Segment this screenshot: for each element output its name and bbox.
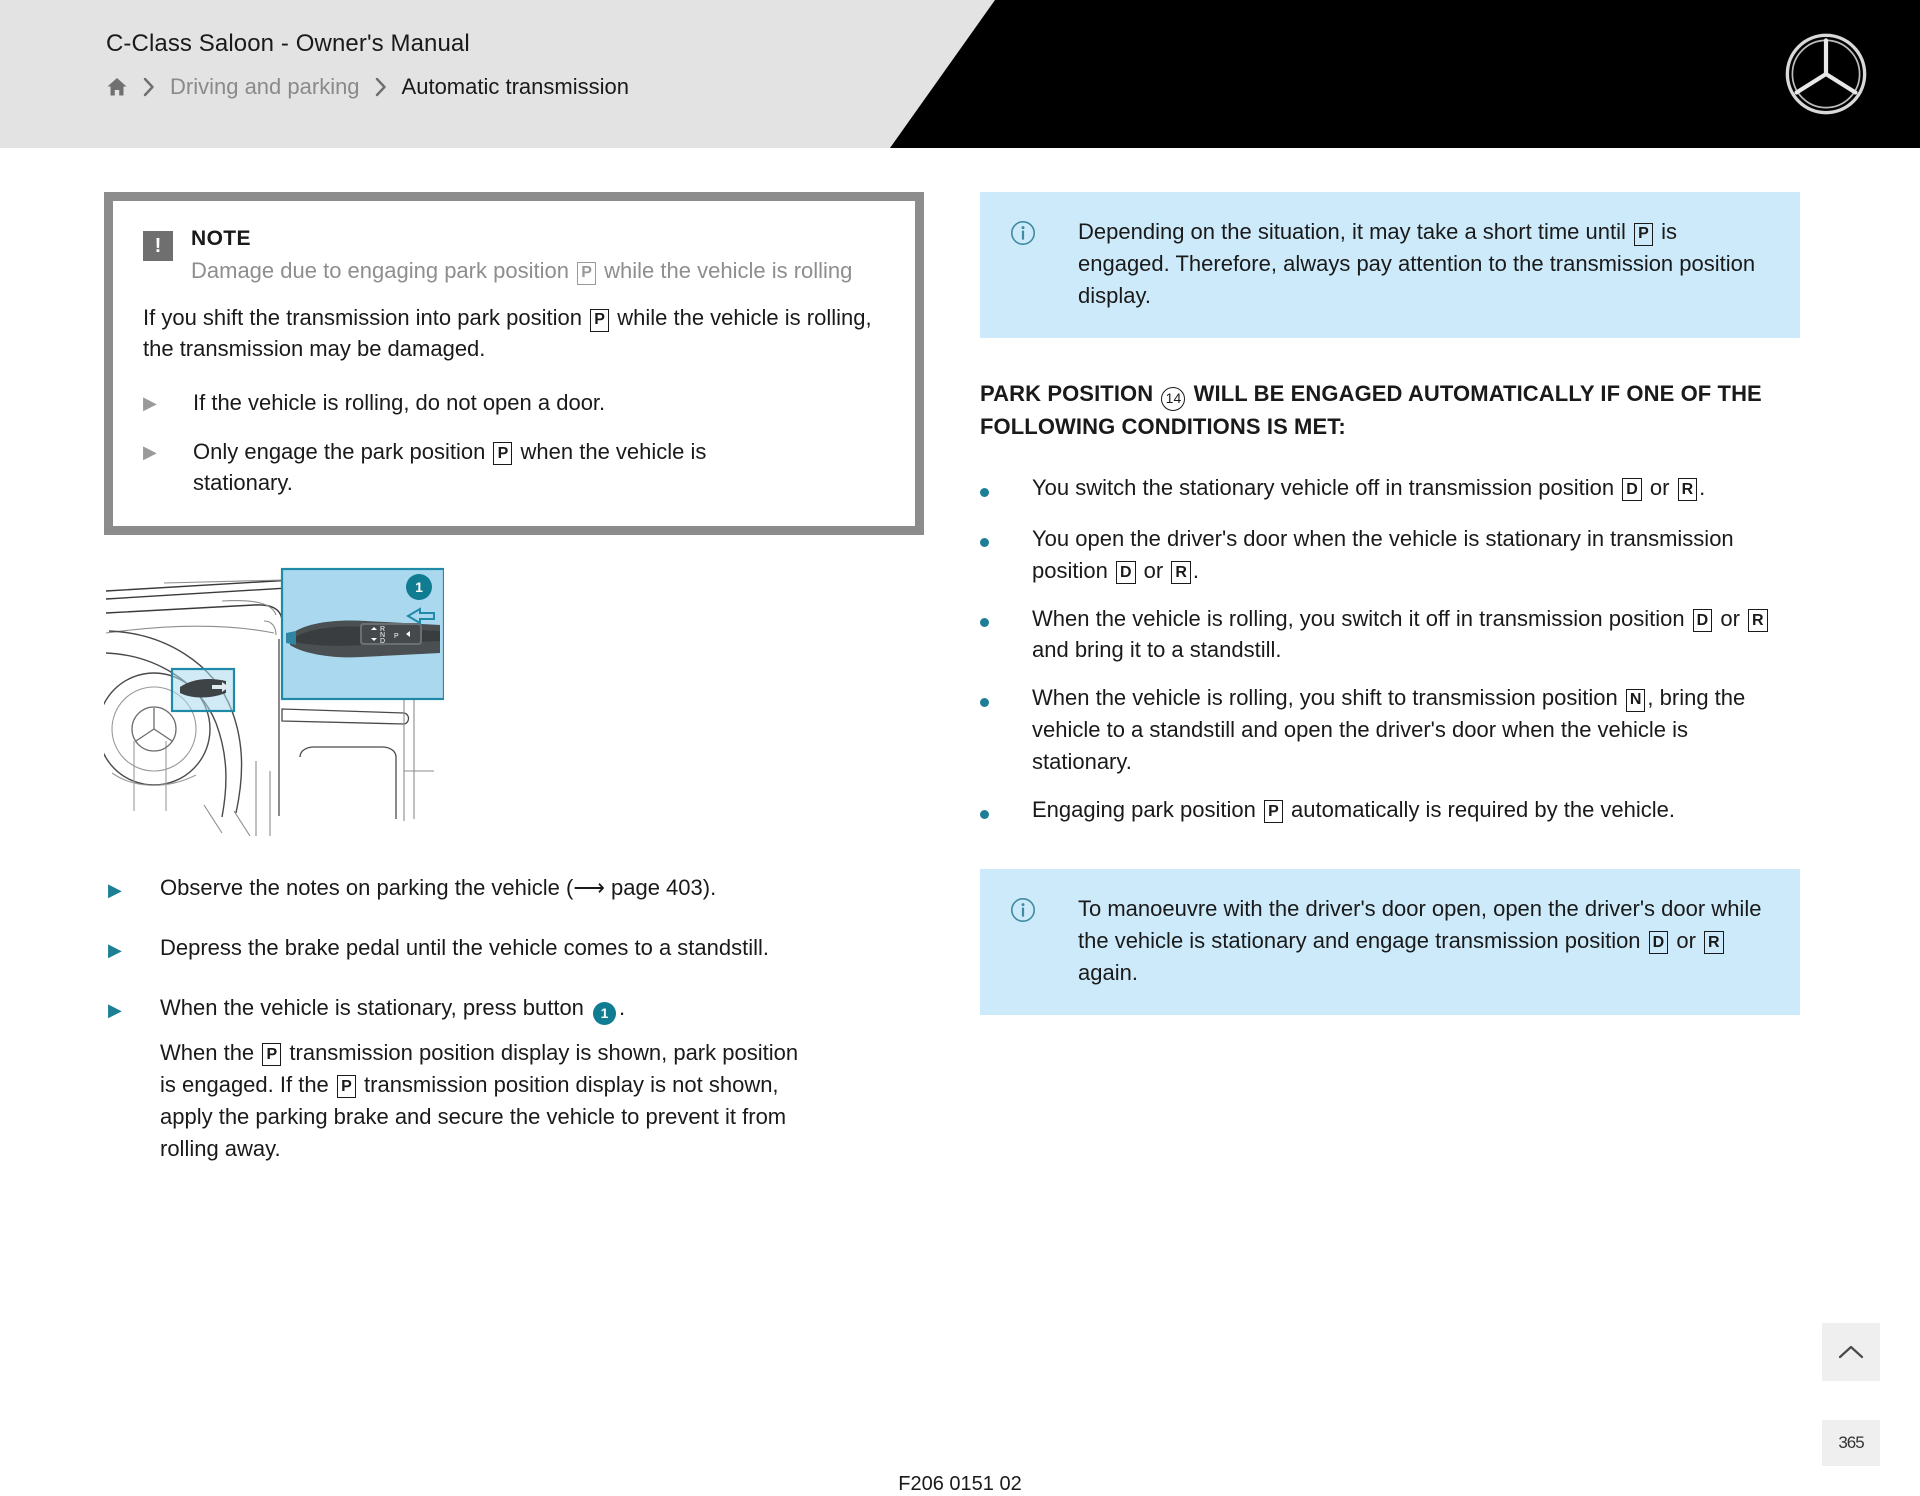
svg-text:1: 1 bbox=[415, 579, 423, 595]
gear-badge-p: P bbox=[590, 309, 609, 332]
procedure-step-text: Observe the notes on parking the vehicle… bbox=[160, 872, 800, 904]
callout-number-14: 14 bbox=[1161, 387, 1185, 411]
condition-list-item-text: You open the driver's door when the vehi… bbox=[1032, 523, 1782, 587]
callout-number-badge: 1 bbox=[593, 1002, 616, 1025]
gear-badge-d: D bbox=[1116, 561, 1136, 584]
note-label: NOTE bbox=[191, 227, 885, 251]
note-body-pre: If you shift the transmission into park … bbox=[143, 305, 588, 330]
condition-list-item-text: When the vehicle is rolling, you switch … bbox=[1032, 603, 1782, 667]
condition-list-item: When the vehicle is rolling, you shift t… bbox=[980, 682, 1800, 778]
condition-text-fragment: or bbox=[1138, 558, 1170, 583]
procedure-step-text: When the vehicle is stationary, press bu… bbox=[160, 992, 800, 1164]
gear-badge-r: R bbox=[1171, 561, 1191, 584]
note-list-item-text: If the vehicle is rolling, do not open a… bbox=[193, 387, 885, 418]
condition-list-item: You open the driver's door when the vehi… bbox=[980, 523, 1800, 587]
triangle-bullet-icon: ▶ bbox=[143, 436, 193, 498]
info-icon bbox=[1010, 893, 1078, 989]
gear-badge-d: D bbox=[1693, 609, 1713, 632]
note-list-item-text: Only engage the park position P when the… bbox=[193, 436, 885, 498]
dot-bullet-icon bbox=[980, 603, 1032, 667]
header-text-group: C-Class Saloon - Owner's Manual Driving … bbox=[106, 30, 629, 100]
condition-list-item: You switch the stationary vehicle off in… bbox=[980, 472, 1800, 507]
figure-code-footer: F206 0151 02 bbox=[0, 1473, 1920, 1496]
condition-list-item-text: You switch the stationary vehicle off in… bbox=[1032, 472, 1782, 507]
note-subtitle-post: while the vehicle is rolling bbox=[598, 258, 852, 283]
procedure-step: ▶ When the vehicle is stationary, press … bbox=[108, 992, 900, 1164]
condition-list-item-text: Engaging park position P automatically i… bbox=[1032, 794, 1782, 829]
condition-list-item: When the vehicle is rolling, you switch … bbox=[980, 603, 1800, 667]
svg-text:P: P bbox=[394, 633, 399, 640]
note-list-item: ▶ Only engage the park position P when t… bbox=[143, 436, 885, 498]
breadcrumb-current: Automatic transmission bbox=[402, 74, 629, 100]
gear-badge-n: N bbox=[1626, 689, 1646, 712]
gear-badge-r: R bbox=[1748, 609, 1768, 632]
header-black-panel bbox=[890, 0, 1920, 148]
chevron-up-icon bbox=[1837, 1342, 1865, 1362]
note-item-text: If the vehicle is rolling, do not open a… bbox=[193, 390, 605, 415]
triangle-bullet-icon: ▶ bbox=[143, 387, 193, 418]
note-box: ! NOTE Damage due to engaging park posit… bbox=[104, 192, 924, 535]
note-header: ! NOTE Damage due to engaging park posit… bbox=[143, 227, 885, 286]
dot-bullet-icon bbox=[980, 472, 1032, 507]
page-content: ! NOTE Damage due to engaging park posit… bbox=[0, 148, 1920, 1192]
right-column: Depending on the situation, it may take … bbox=[900, 192, 1800, 1192]
step-text-post: . bbox=[619, 995, 625, 1020]
page-header: C-Class Saloon - Owner's Manual Driving … bbox=[0, 0, 1920, 148]
gear-badge-d: D bbox=[1649, 931, 1669, 954]
note-body: If you shift the transmission into park … bbox=[143, 302, 885, 364]
substep-text-a: When the bbox=[160, 1040, 260, 1065]
info-text-post: again. bbox=[1078, 960, 1138, 985]
condition-text-fragment: or bbox=[1714, 606, 1746, 631]
info-text-mid: or bbox=[1670, 928, 1702, 953]
procedure-step: ▶ Depress the brake pedal until the vehi… bbox=[108, 932, 900, 964]
warning-exclamation-icon: ! bbox=[143, 231, 173, 261]
note-item-text: Only engage the park position bbox=[193, 439, 491, 464]
conditions-bullet-list: You switch the stationary vehicle off in… bbox=[980, 472, 1800, 829]
gear-badge-p: P bbox=[1264, 800, 1283, 823]
condition-text-fragment: You switch the stationary vehicle off in… bbox=[1032, 475, 1620, 500]
condition-text-fragment: or bbox=[1644, 475, 1676, 500]
breadcrumb-parent-link[interactable]: Driving and parking bbox=[170, 74, 360, 100]
dashboard-gear-selector-illustration: R N D P bbox=[104, 561, 444, 836]
scroll-to-top-button[interactable] bbox=[1822, 1323, 1880, 1381]
note-bullet-list: ▶ If the vehicle is rolling, do not open… bbox=[143, 387, 885, 499]
callout-circle-1: 1 bbox=[406, 574, 432, 600]
condition-text-fragment: automatically is required by the vehicle… bbox=[1285, 797, 1675, 822]
page-number-indicator[interactable]: 365 bbox=[1822, 1420, 1880, 1466]
dot-bullet-icon bbox=[980, 682, 1032, 778]
info-text-pre: Depending on the situation, it may take … bbox=[1078, 219, 1632, 244]
breadcrumb-separator-2 bbox=[374, 76, 388, 98]
condition-text-fragment: Engaging park position bbox=[1032, 797, 1262, 822]
breadcrumb: Driving and parking Automatic transmissi… bbox=[106, 74, 629, 100]
condition-list-item-text: When the vehicle is rolling, you shift t… bbox=[1032, 682, 1782, 778]
gear-badge-p: P bbox=[337, 1075, 356, 1098]
triangle-bullet-icon: ▶ bbox=[108, 872, 160, 904]
gear-badge-r: R bbox=[1704, 931, 1724, 954]
condition-text-fragment: . bbox=[1699, 475, 1705, 500]
condition-text-fragment: When the vehicle is rolling, you shift t… bbox=[1032, 685, 1624, 710]
left-column: ! NOTE Damage due to engaging park posit… bbox=[0, 192, 900, 1192]
section-heading: PARK POSITION 14 WILL BE ENGAGED AUTOMAT… bbox=[980, 378, 1770, 442]
two-column-layout: ! NOTE Damage due to engaging park posit… bbox=[0, 148, 1920, 1192]
home-icon[interactable] bbox=[106, 76, 128, 98]
gear-badge-p: P bbox=[493, 442, 512, 465]
gear-badge-r: R bbox=[1678, 478, 1698, 501]
gear-badge-p: P bbox=[577, 262, 596, 285]
mercedes-benz-star-icon bbox=[1784, 32, 1868, 116]
info-box-top: Depending on the situation, it may take … bbox=[980, 192, 1800, 338]
triangle-bullet-icon: ▶ bbox=[108, 932, 160, 964]
dot-bullet-icon bbox=[980, 523, 1032, 587]
dot-bullet-icon bbox=[980, 794, 1032, 829]
breadcrumb-separator-1 bbox=[142, 76, 156, 98]
condition-text-fragment: . bbox=[1193, 558, 1199, 583]
gear-badge-p: P bbox=[1634, 223, 1653, 246]
info-box-bottom-text: To manoeuvre with the driver's door open… bbox=[1078, 893, 1770, 989]
info-box-bottom: To manoeuvre with the driver's door open… bbox=[980, 869, 1800, 1015]
procedure-step: ▶ Observe the notes on parking the vehic… bbox=[108, 872, 900, 904]
heading-pre: PARK POSITION bbox=[980, 381, 1159, 406]
condition-text-fragment: and bring it to a standstill. bbox=[1032, 637, 1281, 662]
note-list-item: ▶ If the vehicle is rolling, do not open… bbox=[143, 387, 885, 418]
condition-text-fragment: When the vehicle is rolling, you switch … bbox=[1032, 606, 1691, 631]
note-subtitle-pre: Damage due to engaging park position bbox=[191, 258, 575, 283]
procedure-step-list: ▶ Observe the notes on parking the vehic… bbox=[104, 872, 900, 1164]
condition-list-item: Engaging park position P automatically i… bbox=[980, 794, 1800, 829]
info-icon bbox=[1010, 216, 1078, 312]
manual-title: C-Class Saloon - Owner's Manual bbox=[106, 30, 629, 58]
info-box-top-text: Depending on the situation, it may take … bbox=[1078, 216, 1770, 312]
gear-badge-d: D bbox=[1622, 478, 1642, 501]
procedure-step-subtext: When the P transmission position display… bbox=[160, 1037, 800, 1165]
note-header-text: NOTE Damage due to engaging park positio… bbox=[191, 227, 885, 286]
step-text-pre: When the vehicle is stationary, press bu… bbox=[160, 995, 590, 1020]
svg-text:D: D bbox=[380, 638, 385, 645]
note-subtitle: Damage due to engaging park position P w… bbox=[191, 255, 885, 286]
procedure-step-text: Depress the brake pedal until the vehicl… bbox=[160, 932, 800, 964]
triangle-bullet-icon: ▶ bbox=[108, 992, 160, 1164]
gear-badge-p: P bbox=[262, 1043, 281, 1066]
